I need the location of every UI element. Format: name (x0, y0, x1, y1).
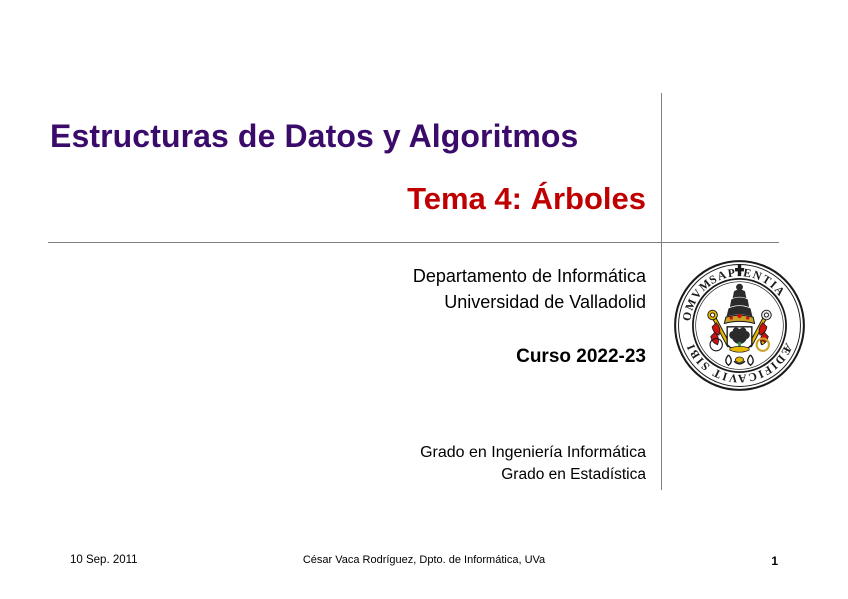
horizontal-divider (48, 242, 779, 243)
department-line-1: Departamento de Informática (260, 263, 646, 289)
degrees-block: Grado en Ingeniería Informática Grado en… (260, 441, 646, 487)
department-line-2: Universidad de Valladolid (260, 289, 646, 315)
page-subtitle: Tema 4: Árboles (50, 182, 646, 217)
footer-page-number: 1 (771, 554, 778, 568)
page-title: Estructuras de Datos y Algoritmos (50, 119, 642, 155)
footer-credit: César Vaca Rodríguez, Dpto. de Informáti… (0, 554, 848, 566)
slide-footer: 10 Sep. 2011 César Vaca Rodríguez, Dpto.… (0, 554, 848, 576)
university-seal-icon: SAPIENTIA ÆDIFICAVIT SIBI DOMVM (671, 257, 808, 394)
department-block: Departamento de Informática Universidad … (260, 263, 646, 315)
slide-canvas: Estructuras de Datos y Algoritmos Tema 4… (0, 0, 848, 599)
degree-line-1: Grado en Ingeniería Informática (260, 441, 646, 464)
degree-line-2: Grado en Estadística (260, 464, 646, 486)
course-label: Curso 2022-23 (260, 343, 646, 371)
course-block: Curso 2022-23 (260, 343, 646, 371)
vertical-divider (661, 93, 662, 490)
